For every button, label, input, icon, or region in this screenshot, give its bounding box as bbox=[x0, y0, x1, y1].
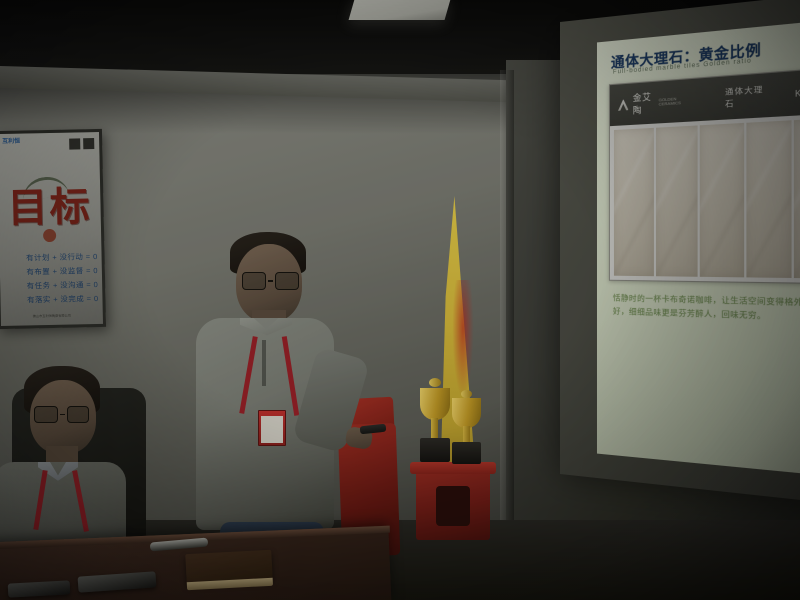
glasses-icon bbox=[34, 406, 89, 423]
glasses-bridge bbox=[268, 280, 273, 282]
trophy-finial bbox=[429, 378, 441, 387]
trophy-finial bbox=[461, 390, 472, 398]
banner-emblem bbox=[452, 280, 474, 400]
glasses-lens bbox=[34, 406, 58, 423]
brand-name: 金艾陶 bbox=[633, 90, 656, 116]
standing-presenter bbox=[196, 232, 396, 572]
product-name: 通体大理石 bbox=[725, 83, 765, 110]
trophy-cup bbox=[452, 398, 481, 428]
trophy-base bbox=[452, 442, 481, 464]
product-card: 金艾陶 GOLDEN CERAMICS 通体大理石 KA9M612 bbox=[609, 66, 800, 284]
ceiling-light-panel bbox=[349, 0, 452, 20]
trophy-base bbox=[420, 438, 450, 462]
glasses-icon bbox=[242, 272, 299, 290]
stool-opening bbox=[436, 486, 470, 526]
tile-sample bbox=[700, 123, 744, 277]
glasses-lens bbox=[275, 272, 299, 290]
slide-body-text: 恬静时的一杯卡布奇诺咖啡，让生活空间变得格外舒服美好，细细品味更是芬芳醉人，回味… bbox=[613, 291, 800, 325]
slide: 通体大理石：黄金比例 Full-bodied marble tiles Gold… bbox=[597, 18, 800, 479]
trophy-stem bbox=[431, 418, 438, 440]
id-badge-photo bbox=[261, 416, 283, 443]
glasses-lens bbox=[242, 272, 266, 290]
brand-subtext: GOLDEN CERAMICS bbox=[659, 96, 693, 107]
product-header-bar: 金艾陶 GOLDEN CERAMICS 通体大理石 KA9M612 bbox=[610, 67, 800, 126]
motivational-poster: 互利恒 目标 有计划 + 没行动 = 0 有布置 + 没监督 = 0 有任务 +… bbox=[0, 129, 106, 329]
poster-shadow-overlay bbox=[0, 132, 103, 326]
projection-screen: 通体大理石：黄金比例 Full-bodied marble tiles Gold… bbox=[560, 0, 800, 504]
meeting-room-photo: 通体大理石：黄金比例 Full-bodied marble tiles Gold… bbox=[0, 0, 800, 600]
tile-sample bbox=[614, 128, 654, 276]
mountain-logo-icon bbox=[618, 99, 629, 111]
product-code: KA9M612 bbox=[795, 85, 800, 99]
id-badge bbox=[258, 410, 286, 446]
wall-corner bbox=[500, 70, 514, 550]
tile-grid bbox=[614, 118, 800, 279]
glasses-lens bbox=[67, 406, 89, 423]
glasses-bridge bbox=[60, 414, 65, 416]
shirt-placket bbox=[262, 340, 266, 386]
tile-sample bbox=[794, 118, 800, 279]
notebook bbox=[185, 550, 272, 584]
tile-sample bbox=[656, 125, 698, 276]
presenter-clicker bbox=[360, 424, 387, 435]
tile-sample bbox=[746, 120, 791, 278]
brand-logo: 金艾陶 GOLDEN CERAMICS bbox=[618, 87, 692, 117]
trophy-cup bbox=[420, 388, 450, 420]
